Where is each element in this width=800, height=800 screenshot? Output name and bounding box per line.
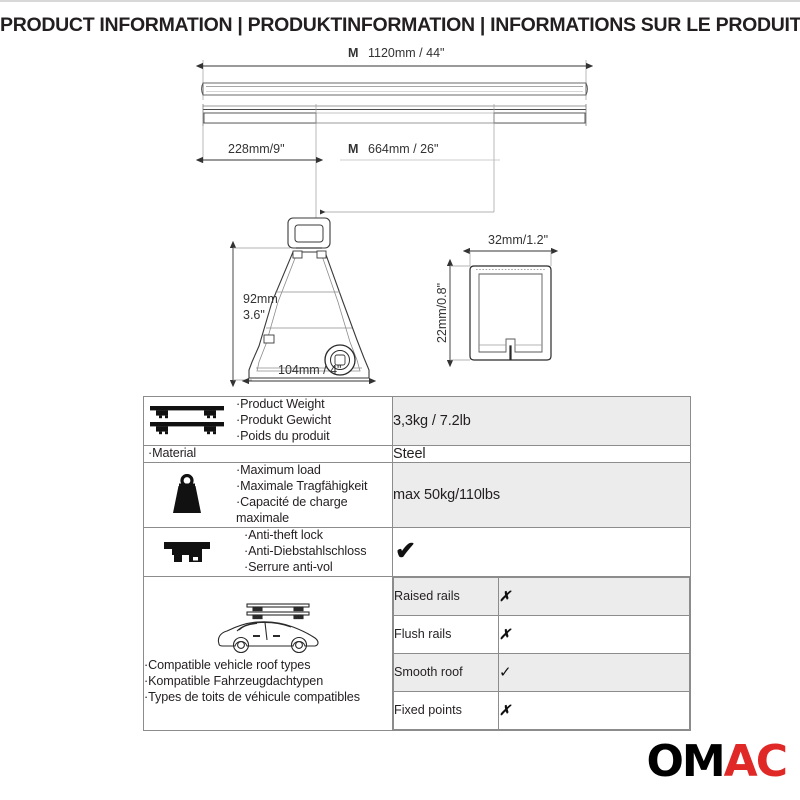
svg-text:3.6": 3.6" xyxy=(243,308,265,322)
top-divider xyxy=(0,0,800,2)
svg-text:M: M xyxy=(348,46,358,60)
svg-text:664mm / 26": 664mm / 26" xyxy=(368,142,438,156)
svg-text:228mm/9": 228mm/9" xyxy=(228,142,285,156)
compat-name-raised-rails: Raised rails xyxy=(394,577,499,615)
label-line-de: ·Maximale Tragfähigkeit xyxy=(236,479,392,495)
table-row-compatibility: ·Compatible vehicle roof types ·Kompatib… xyxy=(144,576,691,730)
label-line-fr: ·Poids du produit xyxy=(236,429,331,445)
spec-value-product-weight: 3,3kg / 7.2lb xyxy=(393,397,691,446)
svg-text:32mm/1.2": 32mm/1.2" xyxy=(488,233,548,247)
compatibility-matrix: Raised rails ✗ Flush rails ✗ xyxy=(393,576,691,730)
compat-row-fixed-points: Fixed points ✗ xyxy=(394,691,690,729)
table-row: ·Material Steel xyxy=(144,445,691,462)
compat-value-flush-rails: ✗ xyxy=(499,615,690,653)
label-line-fr: ·Serrure anti-vol xyxy=(244,560,366,576)
label-line-de: ·Produkt Gewicht xyxy=(236,413,331,429)
spec-label-text: ·Maximum load ·Maximale Tragfähigkeit ·C… xyxy=(236,463,392,527)
compat-value-fixed-points: ✗ xyxy=(499,691,690,729)
cross-icon: ✗ xyxy=(499,626,511,642)
compat-value-smooth-roof: ✓ xyxy=(499,653,690,691)
cross-icon: ✗ xyxy=(499,702,511,718)
compat-name-fixed-points: Fixed points xyxy=(394,691,499,729)
label-line-en: ·Compatible vehicle roof types xyxy=(144,658,392,674)
label-line-fr: ·Capacité de charge maximale xyxy=(236,495,392,527)
spec-label-text: ·Anti-theft lock ·Anti-Diebstahlschloss … xyxy=(236,528,366,576)
label-line-en: ·Anti-theft lock xyxy=(244,528,366,544)
cross-icon: ✗ xyxy=(499,588,511,604)
spec-label-cell: ·Maximum load ·Maximale Tragfähigkeit ·C… xyxy=(144,462,393,527)
svg-text:92mm: 92mm xyxy=(243,292,278,306)
spec-label-cell: ·Material xyxy=(144,445,393,462)
spec-label-cell: ·Anti-theft lock ·Anti-Diebstahlschloss … xyxy=(144,527,393,576)
table-row: ·Maximum load ·Maximale Tragfähigkeit ·C… xyxy=(144,462,691,527)
spec-label-text: ·Product Weight ·Produkt Gewicht ·Poids … xyxy=(236,397,331,445)
technical-drawings: M 1120mm / 44" xyxy=(0,40,800,390)
spec-label-text: ·Material xyxy=(144,446,196,462)
lock-icon xyxy=(144,536,230,568)
compat-name-flush-rails: Flush rails xyxy=(394,615,499,653)
compatibility-label-text: ·Compatible vehicle roof types ·Kompatib… xyxy=(144,658,392,706)
omac-logo: OMAC xyxy=(646,740,786,784)
crossbars-icon xyxy=(144,402,230,440)
logo-text-om: OM xyxy=(646,736,723,787)
page-title: PRODUCT INFORMATION | PRODUKTINFORMATION… xyxy=(0,14,800,37)
label-line-en: ·Maximum load xyxy=(236,463,392,479)
svg-text:104mm / 4": 104mm / 4" xyxy=(278,363,342,377)
weight-icon xyxy=(144,474,230,516)
spec-label-cell: ·Product Weight ·Produkt Gewicht ·Poids … xyxy=(144,397,393,446)
spec-value-material: Steel xyxy=(393,445,691,462)
label-line-de: ·Kompatible Fahrzeugdachtypen xyxy=(144,674,392,690)
svg-text:22mm/0.8": 22mm/0.8" xyxy=(435,283,449,343)
spec-value-anti-theft-lock: ✔ xyxy=(393,527,691,576)
svg-text:M: M xyxy=(348,142,358,156)
table-row: ·Product Weight ·Produkt Gewicht ·Poids … xyxy=(144,397,691,446)
compat-row-raised-rails: Raised rails ✗ xyxy=(394,577,690,615)
logo-text-ac: AC xyxy=(724,736,786,787)
table-row: ·Anti-theft lock ·Anti-Diebstahlschloss … xyxy=(144,527,691,576)
label-line-en: ·Material xyxy=(148,446,196,462)
compatibility-label-cell: ·Compatible vehicle roof types ·Kompatib… xyxy=(144,576,393,730)
checkmark-icon: ✓ xyxy=(499,664,512,681)
compat-row-smooth-roof: Smooth roof ✓ xyxy=(394,653,690,691)
compat-value-raised-rails: ✗ xyxy=(499,577,690,615)
label-line-fr: ·Types de toits de véhicule compatibles xyxy=(144,690,392,706)
label-line-de: ·Anti-Diebstahlschloss xyxy=(244,544,366,560)
spec-value-maximum-load: max 50kg/110lbs xyxy=(393,462,691,527)
label-line-en: ·Product Weight xyxy=(236,397,331,413)
checkmark-icon: ✔ xyxy=(393,539,416,564)
specification-table: ·Product Weight ·Produkt Gewicht ·Poids … xyxy=(143,396,691,731)
compat-row-flush-rails: Flush rails ✗ xyxy=(394,615,690,653)
compat-name-smooth-roof: Smooth roof xyxy=(394,653,499,691)
svg-text:1120mm / 44": 1120mm / 44" xyxy=(368,46,444,60)
car-with-rack-icon xyxy=(144,600,392,656)
